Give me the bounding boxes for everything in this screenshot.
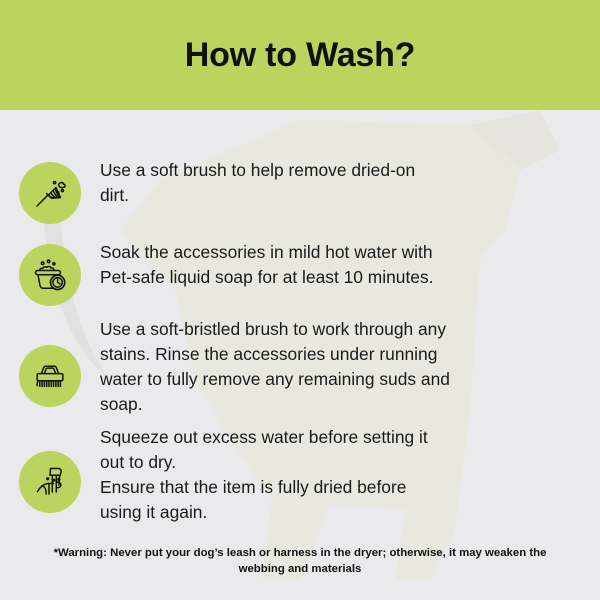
infographic-page: How to Wash? [0,0,600,600]
step-text-line: Ensure that the item is fully dried befo… [100,475,568,500]
step-text-line: water to fully remove any remaining suds… [100,367,568,392]
steps-list: Use a soft brush to help remove dried-on… [0,110,600,540]
step-text-line: soap. [100,392,568,417]
step-text-line: using it again. [100,500,568,525]
step-text: Squeeze out excess water before setting … [100,425,600,525]
scrub-brush-icon [19,345,81,407]
list-item: Use a soft brush to help remove dried-on… [0,158,600,224]
step-text-line: Use a soft-bristled brush to work throug… [100,317,568,342]
step-text: Use a soft-bristled brush to work throug… [100,317,600,417]
warning-line: webbing and materials [0,561,600,577]
step-text-line: out to dry. [100,450,568,475]
step-text: Use a soft brush to help remove dried-on… [100,158,600,208]
step-icon-container [0,158,100,224]
step-text-line: Use a soft brush to help remove dried-on [100,158,568,183]
broom-dust-icon [19,162,81,224]
step-text-line: Squeeze out excess water before setting … [100,425,568,450]
page-title: How to Wash? [185,36,416,75]
step-text-line: Pet-safe liquid soap for at least 10 min… [100,265,568,290]
step-icon-container [0,425,100,513]
step-text-line: dirt. [100,183,568,208]
step-text-line: stains. Rinse the accessories under runn… [100,342,568,367]
step-icon-container [0,240,100,306]
step-icon-container [0,317,100,407]
warning-note: *Warning: Never put your dog’s leash or … [0,545,600,577]
step-text-line: Soak the accessories in mild hot water w… [100,240,568,265]
header-banner: How to Wash? [0,0,600,110]
list-item: Soak the accessories in mild hot water w… [0,240,600,306]
hand-wringing-cloth-icon [19,451,81,513]
list-item: Squeeze out excess water before setting … [0,425,600,525]
step-text: Soak the accessories in mild hot water w… [100,240,600,290]
list-item: Use a soft-bristled brush to work throug… [0,317,600,417]
wash-basin-timer-icon [19,244,81,306]
warning-line: *Warning: Never put your dog’s leash or … [0,545,600,561]
